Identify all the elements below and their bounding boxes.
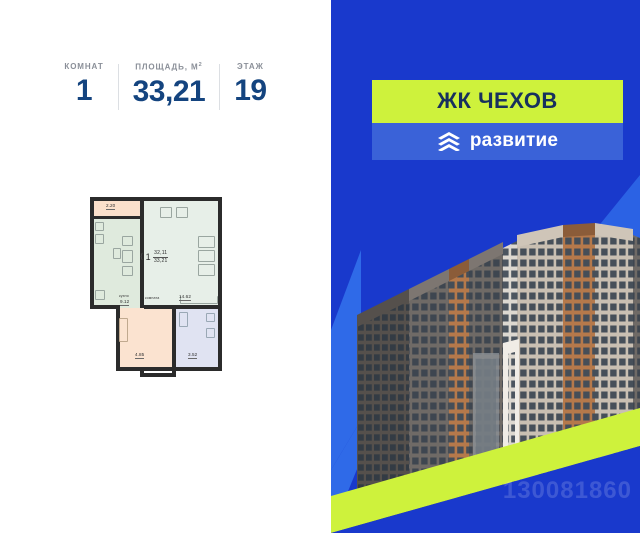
kitchen-cabinet	[95, 290, 105, 300]
area-fraction: 32,11 33,21	[153, 250, 168, 264]
dining-chair	[113, 248, 121, 259]
wall-living-bottom	[144, 305, 222, 309]
stat-floor-value: 19	[234, 76, 266, 106]
toilet	[206, 328, 215, 338]
wall-top	[90, 197, 222, 201]
listing-card: КОМНАТ 1 ПЛОЩАДЬ, М2 33,21 ЭТАЖ 19	[0, 0, 640, 533]
watermark-number: 130081860	[503, 477, 632, 505]
bracket-icon: ⟨	[140, 253, 143, 261]
floor-plan-drawing: 2.20 кухня 9.12 комната 14.62 4.85 3.52 …	[86, 196, 246, 380]
kitchen-stove	[95, 234, 104, 244]
total-area-badge: ⟨ 1 32,11 33,21	[140, 250, 168, 264]
wall-right-upper	[218, 197, 222, 309]
stat-rooms-value: 1	[76, 76, 92, 106]
wall-bottom	[116, 367, 222, 371]
shelf-unit	[198, 250, 215, 262]
wall-balcony-left	[90, 197, 94, 219]
total-area-value: 33,21	[154, 258, 168, 264]
superscript-2: 2	[199, 62, 203, 68]
wall-entry-right	[172, 367, 176, 377]
wall-right-lower	[218, 305, 222, 371]
stat-area-label: ПЛОЩАДЬ, М2	[135, 62, 202, 72]
room-count: 1	[146, 252, 151, 262]
kitchen-area: 9.12	[120, 299, 129, 306]
stat-rooms-label: КОМНАТ	[64, 62, 103, 71]
stat-floor: ЭТАЖ 19	[220, 62, 280, 106]
living-label: комната	[145, 296, 159, 300]
dining-chair	[122, 236, 133, 246]
wall-entry-bottom	[140, 373, 172, 377]
bathroom-area: 3.52	[188, 352, 197, 359]
living-area-value: 32,11	[153, 250, 168, 258]
shelf-unit	[198, 264, 215, 276]
armchair	[160, 207, 172, 218]
bottom-blue-fill	[331, 0, 640, 533]
stat-rooms: КОМНАТ 1	[50, 62, 117, 106]
stat-area: ПЛОЩАДЬ, М2 33,21	[119, 62, 220, 107]
promo-panel: ЖК ЧЕХОВ развитие	[331, 0, 640, 533]
wardrobe	[119, 318, 128, 342]
dining-chair	[122, 266, 133, 276]
armchair	[176, 207, 188, 218]
shelf-unit	[198, 236, 215, 248]
stat-floor-label: ЭТАЖ	[237, 62, 264, 71]
floorplan-card: КОМНАТ 1 ПЛОЩАДЬ, М2 33,21 ЭТАЖ 19	[0, 0, 331, 533]
wall-hall-bath	[172, 308, 176, 370]
bathtub	[179, 312, 188, 327]
kitchen-counter	[95, 222, 104, 231]
dining-table	[122, 250, 133, 263]
apartment-stats: КОМНАТ 1 ПЛОЩАДЬ, М2 33,21 ЭТАЖ 19	[0, 62, 331, 110]
sink	[206, 313, 215, 322]
balcony-area: 2.20	[106, 203, 115, 210]
stat-area-value: 33,21	[133, 77, 206, 107]
kitchen-label: кухня	[119, 294, 129, 298]
living-area: 14.62	[179, 294, 191, 301]
hallway-area: 4.85	[135, 352, 144, 359]
wall-balcony-sep	[94, 216, 140, 219]
